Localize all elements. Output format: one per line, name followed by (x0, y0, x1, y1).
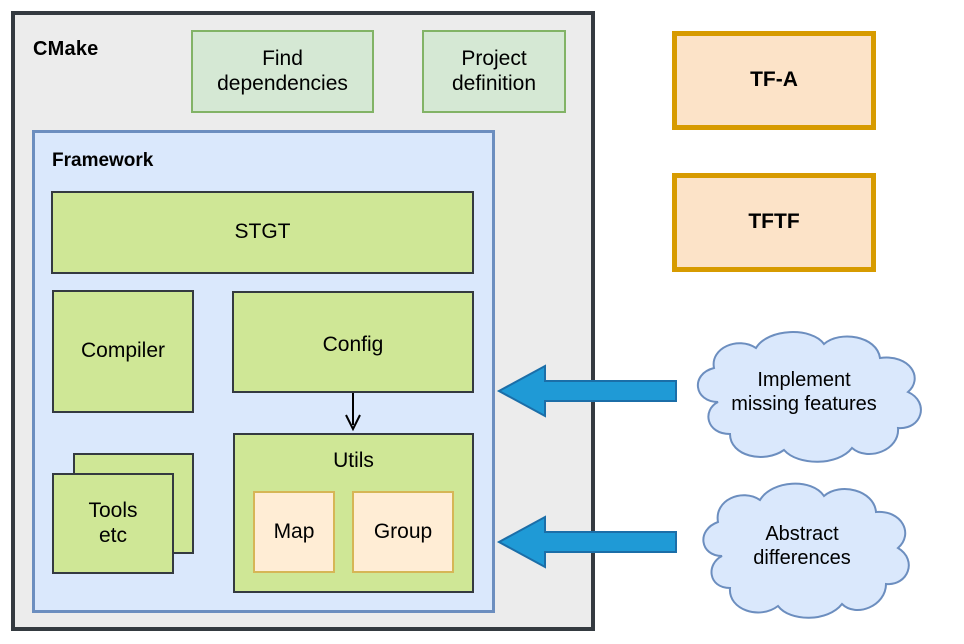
cmake-title: CMake (33, 38, 98, 61)
project-definition-box: Projectdefinition (422, 30, 566, 113)
tf-a-label: TF-A (750, 68, 798, 93)
abstract-differences-label: Abstractdifferences (680, 522, 924, 571)
tftf-label: TFTF (748, 210, 799, 235)
project-definition-label: Projectdefinition (452, 47, 536, 97)
config-box: Config (232, 291, 474, 393)
map-label: Map (274, 520, 315, 545)
stgt-label: STGT (235, 220, 291, 245)
utils-label: Utils (333, 449, 374, 474)
tftf-box: TFTF (672, 173, 876, 272)
implement-missing-features-label: Implementmissing features (672, 368, 936, 417)
abstract-differences-cloud: Abstractdifferences (680, 480, 924, 620)
diagram-canvas: CMake Finddependencies Projectdefinition… (0, 0, 964, 644)
group-label: Group (374, 520, 432, 545)
map-box: Map (253, 491, 335, 573)
framework-title: Framework (52, 150, 153, 172)
compiler-label: Compiler (81, 339, 165, 364)
find-dependencies-label: Finddependencies (217, 47, 348, 97)
group-box: Group (352, 491, 454, 573)
tools-box: Toolsetc (52, 473, 174, 574)
tools-label: Toolsetc (88, 499, 137, 549)
tf-a-box: TF-A (672, 31, 876, 130)
config-label: Config (323, 333, 384, 358)
stgt-box: STGT (51, 191, 474, 274)
implement-missing-features-cloud: Implementmissing features (672, 330, 936, 464)
find-dependencies-box: Finddependencies (191, 30, 374, 113)
compiler-box: Compiler (52, 290, 194, 413)
